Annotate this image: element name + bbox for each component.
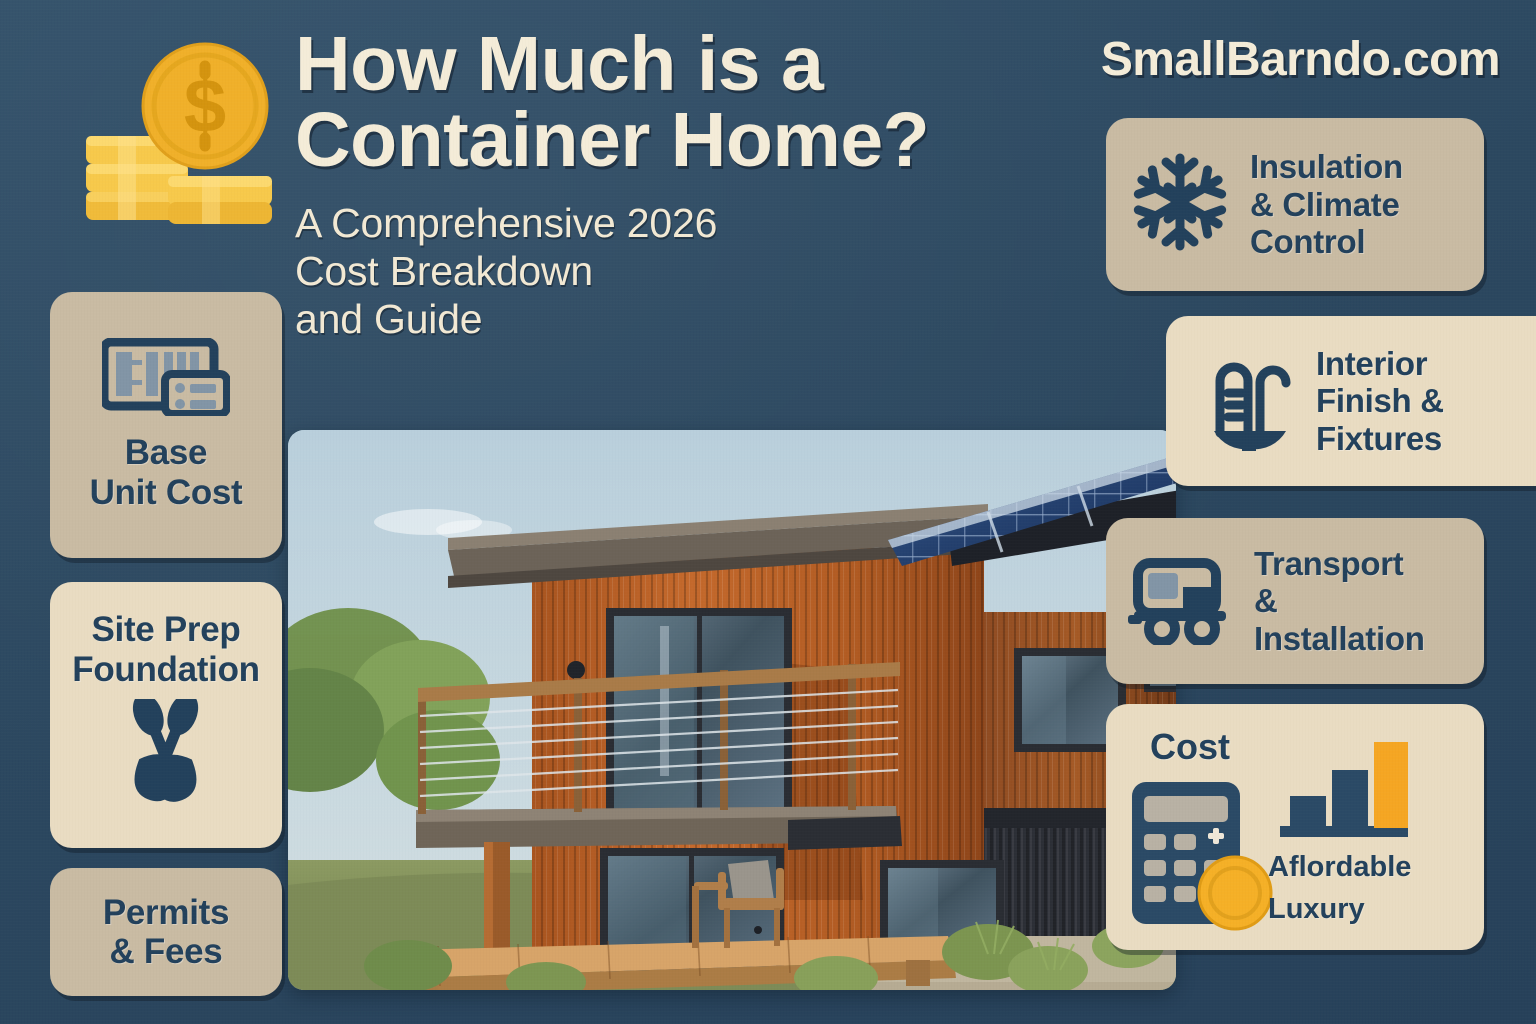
cost-sub-line-1: Aflordable <box>1268 846 1478 888</box>
feature-card-transport-installation[interactable]: Transport & Installation <box>1106 518 1484 684</box>
faucet-sink-icon <box>1202 347 1298 456</box>
crossed-shovels-icon <box>98 699 234 820</box>
bar-chart-icon <box>1274 734 1414 849</box>
delivery-truck-icon <box>1128 553 1238 650</box>
feature-card-interior-finish-fixtures[interactable]: Interior Finish & Fixtures <box>1166 316 1536 486</box>
sidebar-card-site-prep-foundation[interactable]: Site Prep Foundation <box>50 582 282 848</box>
svg-text:$: $ <box>184 64 226 149</box>
title-line-2: Container Home? <box>295 102 1075 178</box>
sidebar-card-site-prep-foundation-label: Site Prep Foundation <box>72 610 260 688</box>
infographic-poster: $ How Much is a Container Home? A Compre… <box>0 0 1536 1024</box>
page-subtitle: A Comprehensive 2026 Cost Breakdown and … <box>295 200 1075 344</box>
snowflake-icon <box>1128 150 1232 259</box>
sidebar-card-base-unit-cost-label: Base Unit Cost <box>90 433 243 511</box>
feature-card-cost[interactable]: Cost <box>1106 704 1484 950</box>
sidebar-card-base-unit-cost[interactable]: Base Unit Cost <box>50 292 282 558</box>
title-line-1: How Much is a <box>295 21 823 107</box>
cost-card-heading: Cost <box>1150 726 1230 768</box>
container-home-photo <box>288 430 1176 990</box>
page-title: How Much is a Container Home? <box>295 26 1075 178</box>
subtitle-line-3: and Guide <box>295 296 1075 344</box>
sidebar-card-permits-fees[interactable]: Permits & Fees <box>50 868 282 996</box>
sidebar-card-permits-fees-label: Permits & Fees <box>103 893 229 971</box>
subtitle-line-2: Cost Breakdown <box>295 248 1075 296</box>
shipping-container-module-icon <box>102 338 230 421</box>
feature-card-interior-label: Interior Finish & Fixtures <box>1316 345 1444 458</box>
brand-wordmark: SmallBarndo.com <box>1101 32 1500 87</box>
feature-card-insulation-label: Insulation & Climate Control <box>1250 148 1403 261</box>
subtitle-line-1: A Comprehensive 2026 <box>295 200 1075 248</box>
feature-card-insulation-climate-control[interactable]: Insulation & Climate Control <box>1106 118 1484 291</box>
gold-coin-icon <box>1196 854 1274 937</box>
cost-sub-line-2: Luxury <box>1268 888 1478 930</box>
gold-coins-dollar-icon: $ <box>72 30 294 226</box>
cost-card-subtext: Aflordable Luxury <box>1268 846 1478 930</box>
feature-card-transport-label: Transport & Installation <box>1254 545 1425 658</box>
title-block: How Much is a Container Home? A Comprehe… <box>295 26 1075 344</box>
